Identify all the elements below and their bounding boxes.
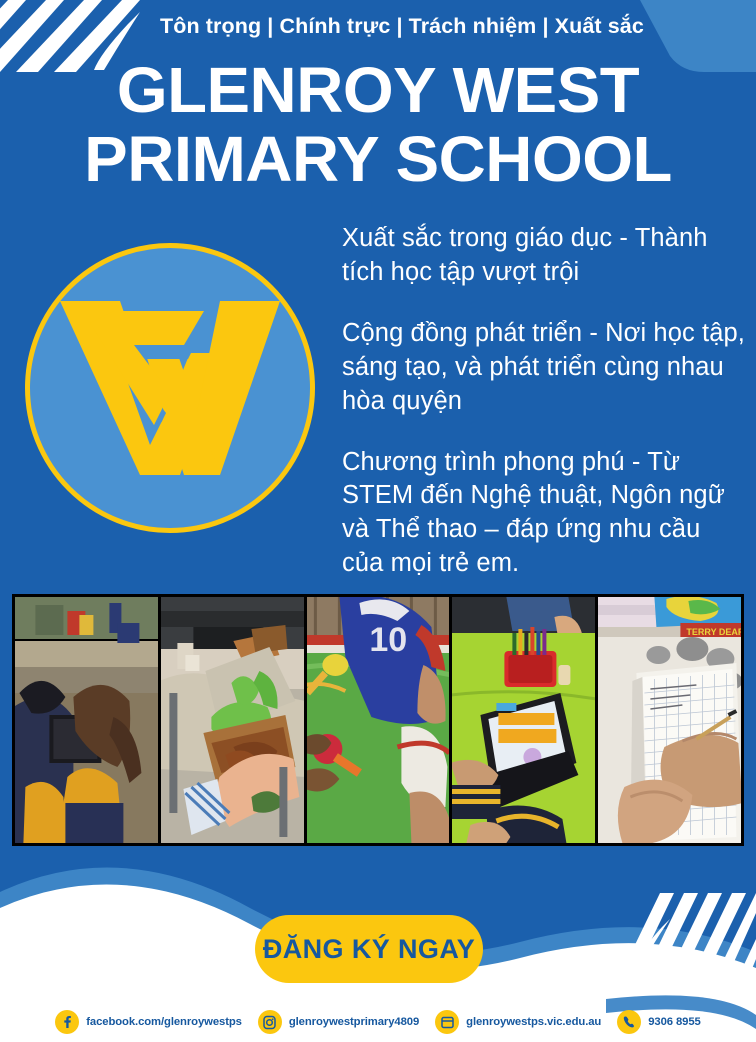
gw-monogram-icon bbox=[54, 293, 286, 483]
contact-phone-text: 9306 8955 bbox=[648, 1016, 701, 1028]
contact-instagram[interactable]: glenroywestprimary4809 bbox=[258, 1010, 419, 1034]
benefits-copy: Xuất sắc trong giáo dục - Thành tích học… bbox=[342, 222, 746, 581]
school-enrolment-poster: Tôn trọng | Chính trực | Trách nhiệm | X… bbox=[0, 0, 756, 1042]
phone-icon bbox=[617, 1010, 641, 1034]
website-icon bbox=[435, 1010, 459, 1034]
svg-text:10: 10 bbox=[369, 621, 407, 659]
contact-instagram-text: glenroywestprimary4809 bbox=[289, 1016, 419, 1028]
copy-paragraph-1: Xuất sắc trong giáo dục - Thành tích học… bbox=[342, 222, 746, 290]
contact-phone[interactable]: 9306 8955 bbox=[617, 1010, 701, 1034]
svg-text:TERRY DEARY: TERRY DEARY bbox=[687, 627, 741, 637]
contact-facebook-text: facebook.com/glenroywestps bbox=[86, 1016, 242, 1028]
photo-writing-notebook: TERRY DEARY bbox=[598, 597, 741, 843]
page-title: GLENROY WEST PRIMARY SCHOOL bbox=[0, 60, 756, 190]
values-tagline: Tôn trọng | Chính trực | Trách nhiệm | X… bbox=[160, 14, 756, 40]
photo-students-laptop bbox=[15, 597, 158, 843]
school-logo bbox=[22, 238, 318, 538]
facebook-icon bbox=[55, 1010, 79, 1034]
logo-circle bbox=[25, 243, 315, 533]
copy-paragraph-2: Cộng đồng phát triển - Nơi học tập, sáng… bbox=[342, 317, 746, 419]
title-line-2: PRIMARY SCHOOL bbox=[0, 129, 756, 190]
copy-paragraph-3: Chương trình phong phú - Từ STEM đến Ngh… bbox=[342, 446, 746, 582]
instagram-icon bbox=[258, 1010, 282, 1034]
contact-facebook[interactable]: facebook.com/glenroywestps bbox=[55, 1010, 242, 1034]
contact-website[interactable]: glenroywestps.vic.edu.au bbox=[435, 1010, 601, 1034]
enrol-now-button[interactable]: ĐĂNG KÝ NGAY bbox=[255, 915, 483, 983]
photo-soccer-jersey: 10 bbox=[307, 597, 450, 843]
photo-strip: 10 bbox=[12, 594, 744, 846]
contact-website-text: glenroywestps.vic.edu.au bbox=[466, 1016, 601, 1028]
title-line-1: GLENROY WEST bbox=[0, 60, 756, 121]
photo-tablet-learning bbox=[452, 597, 595, 843]
contact-bar: facebook.com/glenroywestps glenroywestpr… bbox=[0, 1010, 756, 1034]
photo-cardboard-diorama bbox=[161, 597, 304, 843]
